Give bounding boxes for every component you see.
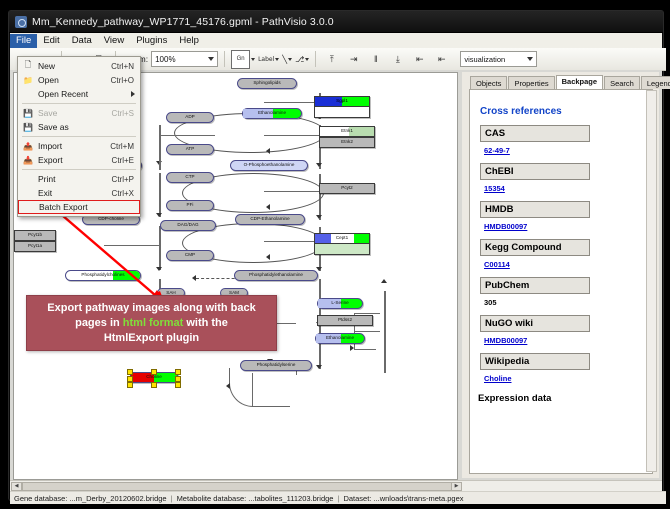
node-cdp-ethanolamine[interactable]: CDP-Ethanolamine: [235, 214, 305, 225]
arrow-icon: [350, 345, 354, 351]
arrow-icon: [316, 163, 322, 167]
menu-separator: [22, 103, 136, 104]
node-sphingolipids[interactable]: Sphingolipids: [237, 78, 297, 89]
chevron-down-icon: [527, 57, 533, 61]
label-tool-icon: Label: [258, 56, 274, 63]
arrow-icon: [316, 365, 322, 369]
side-panel-tabs: Objects Properties Backpage Search Legen…: [470, 75, 670, 89]
menu-file[interactable]: File: [10, 34, 37, 48]
xref-link[interactable]: C00114: [484, 260, 652, 269]
tab-backpage[interactable]: Backpage: [556, 75, 603, 90]
node-phosphatidylethanolamine[interactable]: Phosphatidylethanolamine: [234, 270, 318, 281]
zoom-combobox[interactable]: 100%: [151, 51, 218, 67]
node-atp[interactable]: ATP: [166, 144, 214, 155]
menu-item-label: Import: [38, 141, 110, 151]
xref-wikipedia: Wikipedia Choline: [480, 353, 652, 383]
arrow-icon: [381, 279, 387, 283]
menu-bar: File Edit Data View Plugins Help: [10, 33, 662, 49]
menu-item-label: Open: [38, 75, 111, 85]
node-o-phosphoethanolamine[interactable]: O-Phosphoethanolamine: [230, 160, 308, 171]
save-disk-icon: 💾: [18, 109, 38, 118]
edge: [264, 135, 324, 136]
line-tool[interactable]: ╲: [282, 55, 292, 64]
pathvisio-icon: [15, 16, 27, 28]
annotation-callout: Export pathway images along with back pa…: [26, 295, 277, 351]
xref-kegg-compound: Kegg Compound C00114: [480, 239, 652, 269]
xref-label: HMDB: [480, 201, 590, 218]
edge: [264, 191, 322, 192]
node-ethanolamine[interactable]: Ethanolamine: [242, 108, 302, 119]
horizontal-scrollbar[interactable]: ◀ ▶: [10, 480, 662, 491]
chevron-down-icon: [288, 58, 292, 61]
edge: [384, 291, 386, 373]
align-center-icon[interactable]: ‖: [366, 50, 385, 69]
xref-link[interactable]: HMDB00097: [484, 222, 652, 231]
menu-item-label: Export: [38, 155, 112, 165]
annotation-line-1: Export pathway images along with back: [47, 301, 255, 316]
node-l-serine[interactable]: L-Serine: [317, 298, 363, 309]
status-metabolite-database: Metabolite database: ...tabolites_111203…: [177, 494, 334, 503]
align-right-icon[interactable]: ⇤: [432, 50, 451, 69]
edge: [354, 331, 380, 332]
menu-item-label: Print: [38, 174, 112, 184]
menu-item-label: Batch Export: [39, 202, 139, 212]
xref-label: PubChem: [480, 277, 590, 294]
menu-data[interactable]: Data: [66, 34, 98, 48]
backpage-content: Cross references CAS 62-49-7 ChEBI 15354…: [469, 89, 653, 474]
node-cept1-row2[interactable]: [314, 244, 370, 255]
node-adp[interactable]: ADP: [166, 112, 214, 123]
menu-item-accel: Ctrl+M: [110, 142, 140, 151]
menu-item-save: 💾 Save Ctrl+S: [18, 106, 140, 120]
import-icon: 📤: [18, 142, 38, 151]
tab-search[interactable]: Search: [604, 76, 640, 89]
menu-item-accel: Ctrl+N: [111, 62, 140, 71]
edge: [274, 323, 296, 324]
menu-item-import[interactable]: 📤 Import Ctrl+M: [18, 139, 140, 153]
align-middle-icon[interactable]: ⤓: [388, 50, 407, 69]
status-dataset: Dataset: ...wnloads\trans-meta.pgex: [343, 494, 463, 503]
visualization-combobox[interactable]: visualization: [460, 51, 537, 67]
interaction-tool[interactable]: ⎇: [295, 55, 309, 64]
node-etnk2[interactable]: Etnk2: [319, 137, 375, 148]
title-bar: Mm_Kennedy_pathway_WP1771_45176.gpml - P…: [9, 11, 663, 33]
xref-pubchem: PubChem 305: [480, 277, 652, 307]
tab-objects[interactable]: Objects: [470, 76, 507, 89]
node-cept1[interactable]: Cept1: [314, 233, 370, 244]
annotation-line-2b: with the: [183, 317, 228, 329]
submenu-arrow-icon: [131, 91, 135, 97]
edge: [354, 349, 376, 350]
zoom-value: 100%: [155, 55, 175, 64]
status-separator: |: [171, 494, 173, 503]
xref-label: ChEBI: [480, 163, 590, 180]
menu-item-label: Open Recent: [38, 89, 140, 99]
menu-item-batch-export[interactable]: Batch Export: [18, 200, 140, 214]
tab-legend[interactable]: Legend: [641, 76, 670, 89]
menu-item-save-as[interactable]: 💾 Save as: [18, 120, 140, 134]
chevron-down-icon: [208, 57, 214, 61]
xref-nugo-wiki: NuGO wiki HMDB00097: [480, 315, 652, 345]
line-tool-icon: ╲: [282, 55, 287, 64]
menu-item-exit[interactable]: Exit Ctrl+X: [18, 186, 140, 200]
menu-item-accel: Ctrl+O: [111, 76, 140, 85]
menu-item-print[interactable]: Print Ctrl+P: [18, 172, 140, 186]
expression-data-heading: Expression data: [478, 393, 652, 404]
menu-help[interactable]: Help: [173, 34, 205, 48]
screenshot-root: Mm_Kennedy_pathway_WP1771_45176.gpml - P…: [0, 0, 670, 509]
selection-handle[interactable]: [151, 382, 157, 388]
tab-properties[interactable]: Properties: [508, 76, 554, 89]
annotation-line-3: HtmlExport plugin: [104, 331, 199, 346]
selection-handle[interactable]: [127, 382, 133, 388]
menu-item-export[interactable]: 📥 Export Ctrl+E: [18, 153, 140, 167]
arrow-icon: [316, 267, 322, 271]
xref-label: Kegg Compound: [480, 239, 590, 256]
align-left-icon[interactable]: ⇥: [344, 50, 363, 69]
menu-view[interactable]: View: [98, 34, 130, 48]
arrow-icon: [226, 383, 230, 389]
node-pcyt2[interactable]: Pcyt2: [319, 183, 375, 194]
annotation-highlight: html format: [123, 317, 184, 329]
xref-hmdb: HMDB HMDB00097: [480, 201, 652, 231]
arrow-icon: [266, 148, 270, 154]
menu-item-label: Save as: [38, 122, 134, 132]
save-as-icon: 💾: [18, 123, 38, 132]
interaction-tool-icon: ⎇: [295, 55, 304, 64]
edge: [354, 313, 380, 314]
selection-handle[interactable]: [175, 382, 181, 388]
edge: [159, 126, 161, 170]
edge-curve: [229, 368, 290, 407]
arrow-icon: [316, 215, 322, 219]
selection-handle[interactable]: [151, 369, 157, 375]
chevron-down-icon: [275, 58, 279, 61]
export-icon: 📥: [18, 156, 38, 165]
node-ethanolamine-2[interactable]: Ethanolamine: [315, 333, 365, 344]
cross-references-heading: Cross references: [480, 106, 652, 117]
scroll-right-icon[interactable]: ▶: [451, 482, 462, 491]
gene-product-icon: Gn: [231, 50, 250, 69]
align-bottom-icon[interactable]: ⇤: [410, 50, 429, 69]
new-document-icon: 🗋: [18, 59, 38, 73]
xref-label: CAS: [480, 125, 590, 142]
node-etnk1[interactable]: Etnk1: [319, 126, 375, 137]
visualization-value: visualization: [464, 55, 505, 64]
menu-item-new[interactable]: 🗋 New Ctrl+N: [18, 59, 140, 73]
scroll-left-icon[interactable]: ◀: [11, 482, 22, 491]
side-panel-scrollbar[interactable]: [646, 90, 657, 472]
menu-item-accel: Ctrl+S: [112, 109, 140, 118]
menu-separator: [22, 169, 136, 170]
status-gene-database: Gene database: ...m_Derby_20120602.bridg…: [14, 494, 167, 503]
menu-item-label: New: [38, 61, 111, 71]
menu-item-accel: Ctrl+E: [112, 156, 140, 165]
menu-plugins[interactable]: Plugins: [130, 34, 173, 48]
window-title: Mm_Kennedy_pathway_WP1771_45176.gpml - P…: [32, 16, 334, 28]
xref-label: Wikipedia: [480, 353, 590, 370]
arrow-icon: [266, 204, 270, 210]
menu-item-open-recent[interactable]: Open Recent: [18, 87, 140, 101]
xref-cas: CAS 62-49-7: [480, 125, 652, 155]
application-window: Mm_Kennedy_pathway_WP1771_45176.gpml - P…: [8, 10, 664, 501]
align-top-icon[interactable]: ⤒: [322, 50, 341, 69]
menu-item-label: Exit: [38, 188, 112, 198]
scrollbar-thumb[interactable]: [22, 482, 452, 491]
toolbar-separator: [224, 51, 225, 67]
menu-item-label: Save: [38, 108, 112, 118]
gene-product-tool[interactable]: Gn: [231, 50, 255, 69]
xref-link[interactable]: Choline: [484, 374, 652, 383]
xref-label: NuGO wiki: [480, 315, 590, 332]
xref-chebi: ChEBI 15354: [480, 163, 652, 193]
node-sgpl1-row2[interactable]: [314, 107, 370, 118]
menu-separator: [22, 136, 136, 137]
annotation-line-2: pages in html format with the: [75, 316, 228, 331]
xref-link[interactable]: HMDB00097: [484, 336, 652, 345]
label-tool[interactable]: Label: [258, 56, 279, 63]
xref-link[interactable]: 15354: [484, 184, 652, 193]
selection-handle[interactable]: [175, 369, 181, 375]
status-separator: |: [337, 494, 339, 503]
node-ptdss2[interactable]: Ptdss2: [317, 315, 373, 326]
datanode-fill-left: [315, 234, 331, 243]
chevron-down-icon: [305, 58, 309, 61]
side-panel: Objects Properties Backpage Search Legen…: [462, 72, 659, 478]
edge: [159, 135, 215, 136]
node-sgpl1[interactable]: Sgpl1: [314, 96, 370, 107]
xref-value: 305: [484, 298, 652, 307]
arrow-icon: [266, 254, 270, 260]
file-menu-dropdown[interactable]: 🗋 New Ctrl+N 📁 Open Ctrl+O Open Recent 💾…: [17, 56, 141, 217]
node-phosphatidylserine[interactable]: Phosphatidylserine: [240, 360, 312, 371]
datanode-fill-right: [354, 234, 369, 243]
open-folder-icon: 📁: [18, 76, 38, 85]
menu-item-accel: Ctrl+P: [112, 175, 140, 184]
selection-handle[interactable]: [127, 369, 133, 375]
menu-edit[interactable]: Edit: [37, 34, 65, 48]
xref-link[interactable]: 62-49-7: [484, 146, 652, 155]
annotation-line-2a: pages in: [75, 317, 123, 329]
status-bar: Gene database: ...m_Derby_20120602.bridg…: [10, 491, 666, 504]
chevron-down-icon: [251, 58, 255, 61]
toolbar-separator: [315, 51, 316, 67]
menu-item-accel: Ctrl+X: [112, 189, 140, 198]
menu-item-open[interactable]: 📁 Open Ctrl+O: [18, 73, 140, 87]
